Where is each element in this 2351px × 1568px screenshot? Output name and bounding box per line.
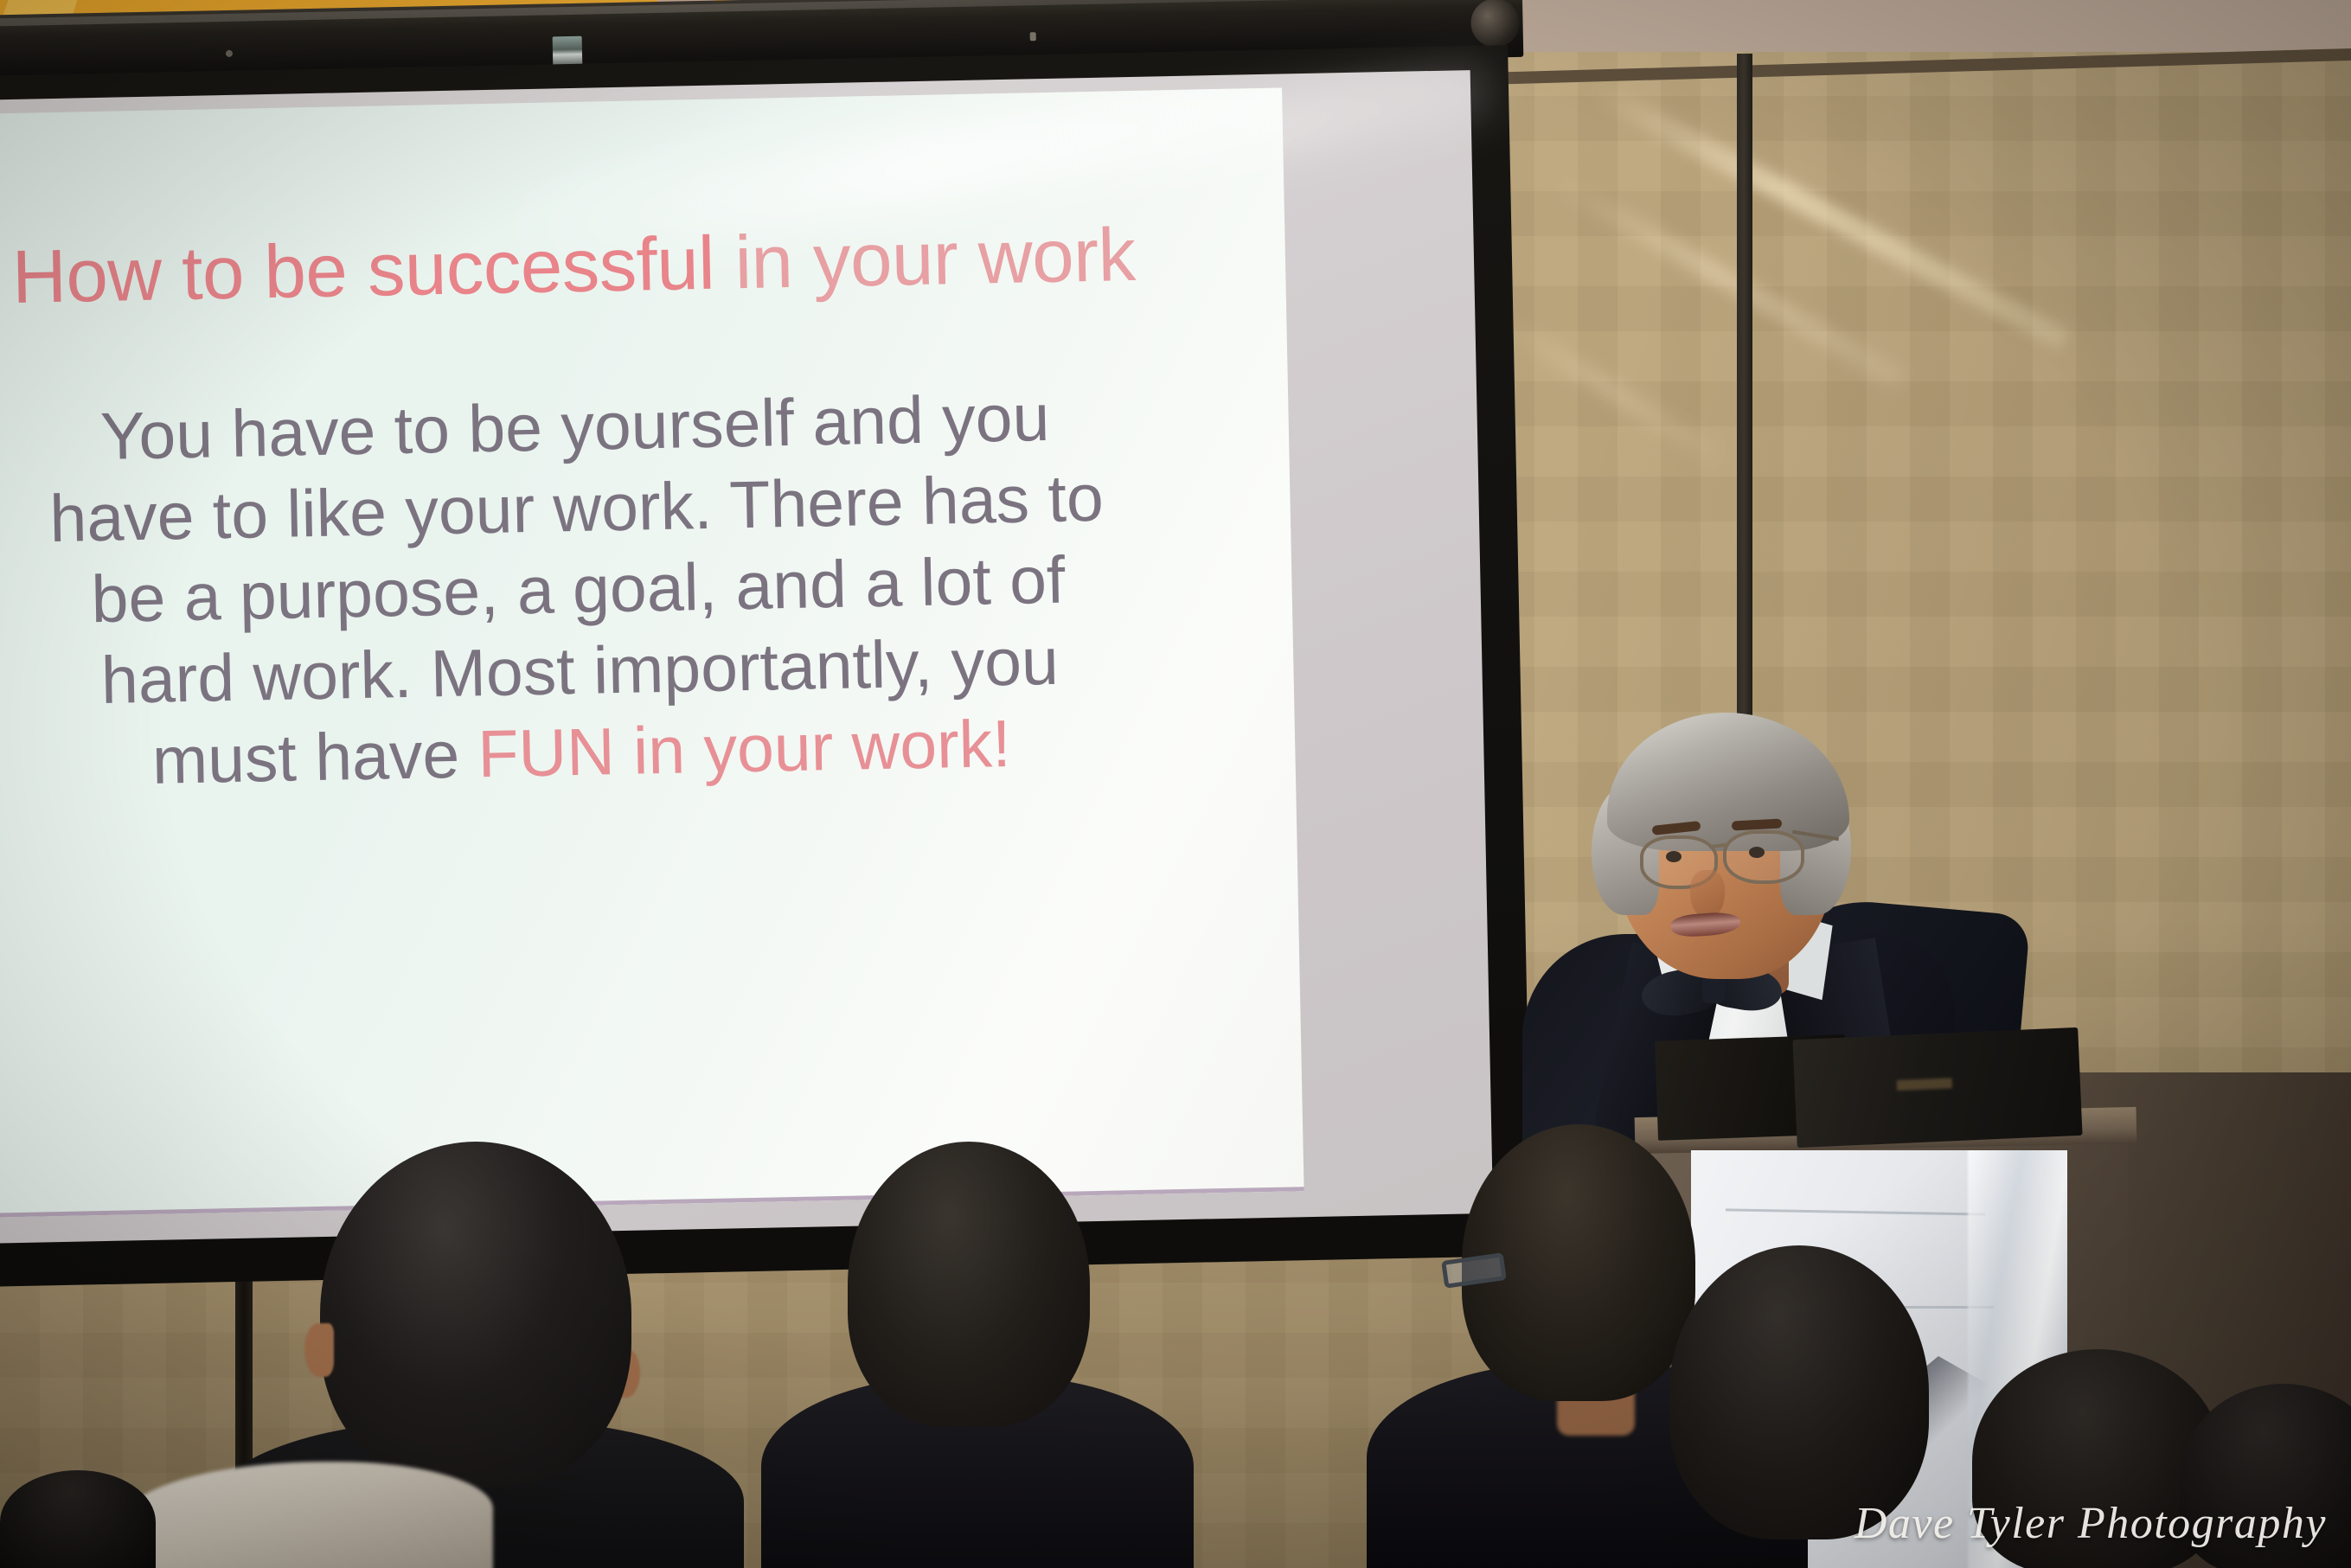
projection-screen: How to be successful in your work You ha… [0, 0, 1548, 1304]
laptop-on-lectern [1792, 1027, 2082, 1148]
slide-body-text: You have to be yourself and you have to … [0, 376, 1157, 805]
audience-member-head [848, 1142, 1090, 1427]
wall-light-streak [1586, 80, 2071, 351]
audience-member-ear [304, 1323, 334, 1377]
speaker-nose [1690, 870, 1725, 918]
slide-title-emphasis: How to be successful [11, 221, 715, 319]
sign-crease [1726, 1208, 1985, 1215]
screen-roller-end-cap [1470, 0, 1520, 48]
speaker-hair [1607, 713, 1849, 851]
slide-final-highlight: FUN in your work! [477, 707, 1012, 791]
screen-mount-pin [226, 50, 233, 57]
slide-title-remainder: in your work [714, 213, 1137, 305]
screen-mount-pin [1030, 32, 1036, 41]
projected-slide: How to be successful in your work You ha… [0, 87, 1304, 1217]
photographer-watermark: Dave Tyler Photography [1855, 1498, 2327, 1549]
glasses-icon [1723, 830, 1804, 884]
audience-member-head [1669, 1245, 1929, 1539]
laptop-logo [1897, 1078, 1952, 1091]
bow-tie-knot [1702, 976, 1725, 1003]
audience-member-head [0, 1470, 156, 1568]
slide-final-prefix: must have [151, 717, 478, 798]
audience-member-head [320, 1142, 631, 1488]
presentation-photograph: How to be successful in your work You ha… [0, 0, 2351, 1568]
wall-light-streak [1553, 174, 1906, 387]
screen-border-frame: How to be successful in your work You ha… [0, 45, 1532, 1286]
slide-title: How to be successful in your work [11, 209, 1241, 320]
